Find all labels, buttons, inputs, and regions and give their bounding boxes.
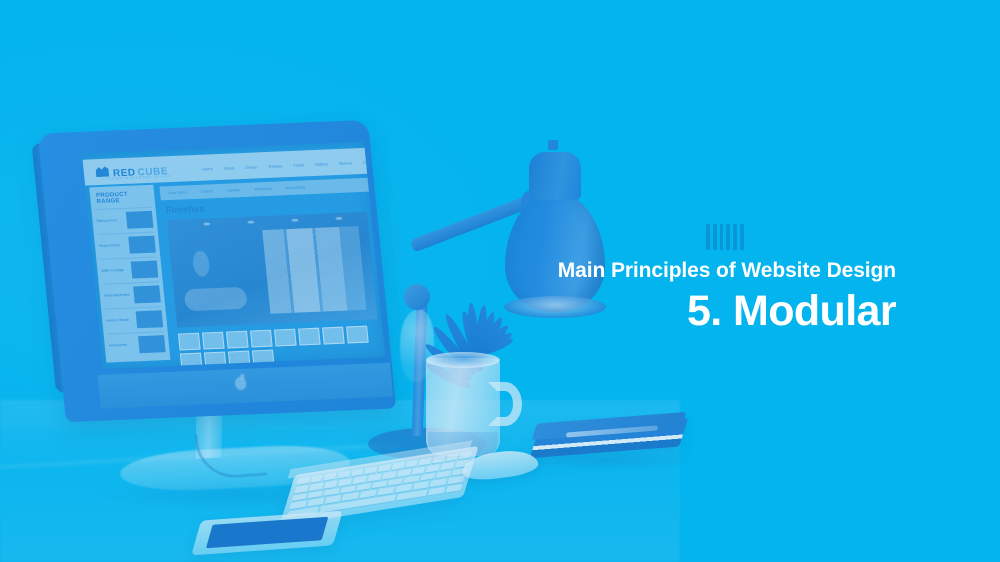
lamp-knob[interactable] xyxy=(548,140,558,150)
mug-rim xyxy=(426,352,500,368)
sidebar-item[interactable]: Sliding Doors xyxy=(95,207,153,231)
slide-subtitle: Main Principles of Website Design xyxy=(558,258,896,284)
presentation-slide: RED CUBE INTERIOR WARDROBE DESIGN Home A… xyxy=(0,0,1000,562)
website-hero-image xyxy=(167,212,378,328)
sidebar-item-label: Interior Fittings xyxy=(106,318,134,323)
sidebar-item-label: Walk In Design xyxy=(101,268,129,273)
sidebar-item-label: Fitted Wardrobes xyxy=(104,293,132,298)
headline-text-block: Main Principles of Website Design 5. Mod… xyxy=(558,258,896,337)
lamp-vents xyxy=(706,224,744,250)
wardrobe-render xyxy=(262,226,366,314)
logo-mark-icon xyxy=(95,166,109,177)
sidebar-item[interactable]: Accessories xyxy=(108,331,166,355)
nav-item[interactable]: Ranges xyxy=(268,163,282,169)
nav-item[interactable]: Finish xyxy=(293,162,304,167)
sidebar-item-thumbnail xyxy=(131,261,158,279)
nav-item[interactable]: About xyxy=(223,165,234,170)
nav-item[interactable]: Gallery xyxy=(315,161,328,167)
thumbnail[interactable] xyxy=(298,328,321,346)
sidebar-item-thumbnail xyxy=(136,310,163,328)
website-nav[interactable]: Home About Design Ranges Finish Gallery … xyxy=(202,159,377,171)
sub-nav-item[interactable]: Door Styles xyxy=(168,190,187,195)
sidebar-item-thumbnail xyxy=(138,335,165,353)
monitor-screen: RED CUBE INTERIOR WARDROBE DESIGN Home A… xyxy=(82,142,385,369)
website-sidebar: PRODUCT RANGE Sliding Doors Hinged Doors… xyxy=(89,185,170,363)
computer-monitor: RED CUBE INTERIOR WARDROBE DESIGN Home A… xyxy=(38,120,397,422)
sidebar-item-label: Accessories xyxy=(109,343,137,348)
apple-logo-icon xyxy=(234,377,246,390)
sidebar-item-label: Hinged Doors xyxy=(99,243,127,248)
sub-nav-item[interactable]: Accessories xyxy=(286,185,306,190)
lamp-top-cap xyxy=(529,152,581,200)
slide-title: 5. Modular xyxy=(558,286,896,337)
sidebar-item[interactable]: Walk In Design xyxy=(100,257,158,281)
sidebar-item[interactable]: Fitted Wardrobes xyxy=(103,281,161,305)
smartphone-screen xyxy=(206,517,328,549)
thumbnail[interactable] xyxy=(226,331,249,349)
sidebar-item-thumbnail xyxy=(129,236,156,254)
thumbnail[interactable] xyxy=(250,330,273,348)
nav-item[interactable]: Home xyxy=(202,166,213,171)
sidebar-item-label: Sliding Doors xyxy=(96,218,124,223)
thumbnail[interactable] xyxy=(178,333,201,351)
sidebar-title: PRODUCT RANGE xyxy=(96,191,151,205)
sub-nav-item[interactable]: Handles xyxy=(227,188,241,193)
website-main-content: Finishes xyxy=(159,194,383,366)
thumbnail[interactable] xyxy=(322,327,345,345)
thumbnail[interactable] xyxy=(202,332,225,350)
sub-nav-item[interactable]: Wardrobes xyxy=(254,187,272,192)
nav-item[interactable]: Service xyxy=(339,160,353,166)
sofa-render xyxy=(184,287,248,311)
nav-item[interactable]: Design xyxy=(245,164,258,169)
sub-nav-item[interactable]: Colours xyxy=(201,189,214,194)
sidebar-item[interactable]: Interior Fittings xyxy=(105,306,163,330)
sidebar-item-thumbnail xyxy=(126,211,153,229)
room-lamp-render xyxy=(192,250,211,277)
website-mockup: RED CUBE INTERIOR WARDROBE DESIGN Home A… xyxy=(82,142,385,369)
sidebar-item-thumbnail xyxy=(134,285,161,303)
thumbnail[interactable] xyxy=(274,329,297,347)
sidebar-item[interactable]: Hinged Doors xyxy=(98,232,156,256)
